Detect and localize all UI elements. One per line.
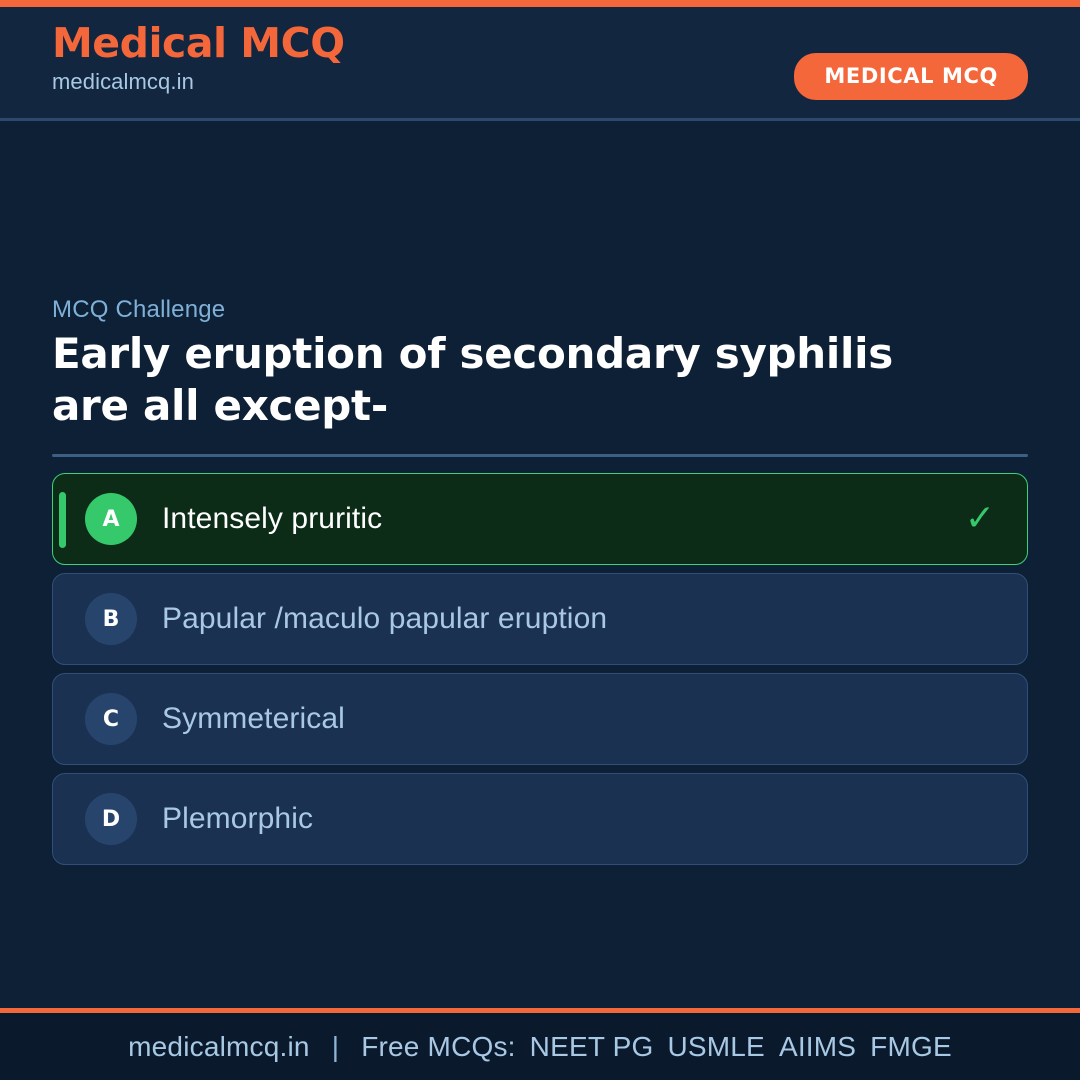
option-c-letter: C [85,693,137,745]
option-b-text: Papular /maculo papular eruption [162,602,607,636]
option-d-letter: D [85,793,137,845]
footer-tag-fmge: FMGE [870,1031,952,1063]
footer-site: medicalmcq.in [128,1031,310,1063]
brand-title: Medical MCQ [52,21,345,67]
option-b[interactable]: B Papular /maculo papular eruption [52,573,1028,665]
brand-block: Medical MCQ medicalmcq.in [52,21,345,95]
options-list: A Intensely pruritic ✓ B Papular /maculo… [52,473,1028,873]
option-b-letter: B [85,593,137,645]
option-c-text: Symmeterical [162,702,345,736]
page-header: Medical MCQ medicalmcq.in MEDICAL MCQ [0,7,1080,121]
footer-tag-usmle: USMLE [667,1031,764,1063]
brand-subtitle: medicalmcq.in [52,69,345,95]
footer-tag-neet-pg: NEET PG [530,1031,654,1063]
footer-content: medicalmcq.in | Free MCQs: NEET PG USMLE… [128,1031,952,1063]
main-content: MCQ Challenge Early eruption of secondar… [0,124,1080,1008]
page-footer: medicalmcq.in | Free MCQs: NEET PG USMLE… [0,1013,1080,1080]
question-divider [52,454,1028,457]
footer-tag-aiims: AIIMS [779,1031,856,1063]
option-a-text: Intensely pruritic [162,502,382,536]
footer-label: Free MCQs: [361,1031,515,1063]
option-a-letter: A [85,493,137,545]
correct-accent-bar [59,492,66,548]
brand-badge: MEDICAL MCQ [794,53,1028,100]
footer-separator: | [332,1031,339,1063]
question-text: Early eruption of secondary syphilis are… [52,328,932,432]
option-c[interactable]: C Symmeterical [52,673,1028,765]
option-d-text: Plemorphic [162,802,313,836]
question-block: MCQ Challenge Early eruption of secondar… [52,296,1028,457]
top-accent-bar [0,0,1080,7]
option-a[interactable]: A Intensely pruritic ✓ [52,473,1028,565]
option-d[interactable]: D Plemorphic [52,773,1028,865]
question-eyebrow: MCQ Challenge [52,296,1028,324]
check-icon: ✓ [965,501,995,537]
